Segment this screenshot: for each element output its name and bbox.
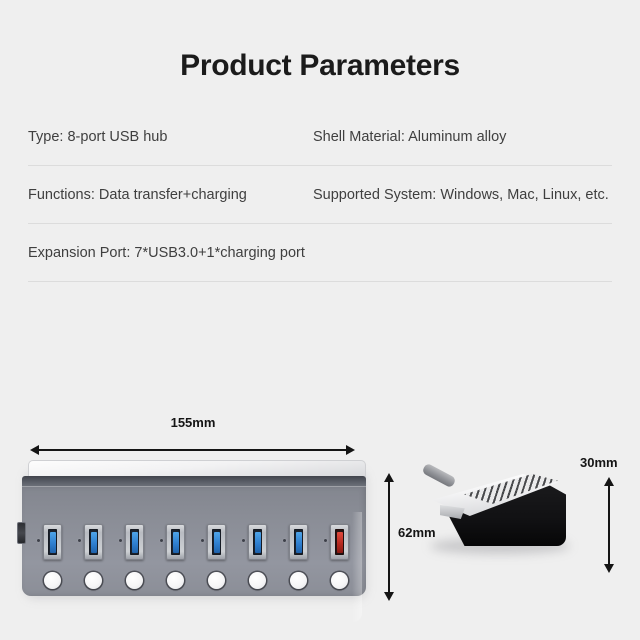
usb-tongue — [91, 532, 97, 553]
usb-port-icon — [84, 524, 103, 560]
usb-tongue — [214, 532, 220, 553]
product-front-view: 155mm — [12, 415, 374, 615]
led-indicator-icon — [283, 539, 286, 542]
led-indicator-icon — [37, 539, 40, 542]
usb-tongue — [337, 532, 343, 553]
spec-row: Type: 8-port USB hub Shell Material: Alu… — [28, 108, 612, 166]
switch-slot-3 — [122, 569, 147, 591]
usb-tongue — [50, 532, 56, 553]
usb-cavity — [171, 529, 180, 555]
arrow-down-icon — [384, 592, 394, 601]
usb-port-3 — [122, 523, 147, 561]
dimension-arrow-width — [30, 445, 355, 455]
led-indicator-icon — [324, 539, 327, 542]
product-side-view — [418, 450, 578, 590]
usb-port-icon — [43, 524, 62, 560]
led-indicator-icon — [160, 539, 163, 542]
dimension-bar — [608, 482, 610, 568]
spec-row: Expansion Port: 7*USB3.0+1*charging port — [28, 224, 612, 282]
hub-side-connector-port — [17, 522, 26, 544]
usb-port-icon — [125, 524, 144, 560]
dimension-label-width: 155mm — [12, 415, 374, 430]
arrow-right-icon — [346, 445, 355, 455]
switch-slot-6 — [245, 569, 270, 591]
power-switch-button[interactable] — [167, 572, 184, 589]
spec-expansion-port: Expansion Port: 7*USB3.0+1*charging port — [28, 243, 313, 263]
hub-right-edge-highlight — [352, 512, 362, 622]
switch-slot-1 — [40, 569, 65, 591]
page-title: Product Parameters — [0, 0, 640, 86]
usb-cavity — [212, 529, 221, 555]
hub-top-cap — [28, 460, 366, 477]
spec-functions: Functions: Data transfer+charging — [28, 185, 313, 205]
usb-port-2 — [81, 523, 106, 561]
spec-shell-material: Shell Material: Aluminum alloy — [313, 127, 612, 147]
switch-slot-4 — [163, 569, 188, 591]
usb-tongue — [296, 532, 302, 553]
power-switch-button[interactable] — [44, 572, 61, 589]
usb-port-7 — [286, 523, 311, 561]
usb-cavity — [253, 529, 262, 555]
power-switch-button[interactable] — [331, 572, 348, 589]
led-indicator-icon — [201, 539, 204, 542]
usb-port-icon — [289, 524, 308, 560]
usb-cavity — [294, 529, 303, 555]
usb-port-1 — [40, 523, 65, 561]
usb-port-icon — [166, 524, 185, 560]
usb-cavity — [130, 529, 139, 555]
led-indicator-icon — [242, 539, 245, 542]
switch-slot-2 — [81, 569, 106, 591]
usb-port-4 — [163, 523, 188, 561]
dimension-arrow-height — [384, 473, 394, 601]
led-indicator-icon — [119, 539, 122, 542]
dimension-height-front: 62mm — [376, 473, 422, 601]
usb-cavity — [89, 529, 98, 555]
spec-table: Type: 8-port USB hub Shell Material: Alu… — [28, 86, 612, 282]
usb-tongue — [255, 532, 261, 553]
power-switch-button[interactable] — [290, 572, 307, 589]
dimension-height-side: 30mm — [596, 455, 640, 585]
dimension-bar — [388, 478, 390, 596]
switch-slot-7 — [286, 569, 311, 591]
arrow-down-icon — [604, 564, 614, 573]
usb-port-icon — [248, 524, 267, 560]
usb-port-row — [40, 522, 352, 562]
dimension-arrow-side-height — [604, 477, 614, 573]
dimension-label-side-height: 30mm — [580, 455, 618, 470]
switch-slot-8 — [327, 569, 352, 591]
usb-hub-body — [18, 460, 368, 598]
product-image-area: 155mm — [0, 395, 640, 640]
usb-tongue — [173, 532, 179, 553]
spec-supported-system: Supported System: Windows, Mac, Linux, e… — [313, 185, 612, 205]
spec-type: Type: 8-port USB hub — [28, 127, 313, 147]
hub-front-face — [22, 486, 366, 596]
power-switch-button[interactable] — [249, 572, 266, 589]
usb-port-icon — [207, 524, 226, 560]
spec-row: Functions: Data transfer+charging Suppor… — [28, 166, 612, 224]
usb-port-5 — [204, 523, 229, 561]
usb-port-6 — [245, 523, 270, 561]
power-switch-button[interactable] — [208, 572, 225, 589]
power-switch-button[interactable] — [85, 572, 102, 589]
switch-slot-5 — [204, 569, 229, 591]
usb-cable — [421, 463, 456, 489]
power-switch-button[interactable] — [126, 572, 143, 589]
dimension-bar — [35, 449, 350, 451]
led-indicator-icon — [78, 539, 81, 542]
charging-port-8 — [327, 523, 352, 561]
power-switch-row — [40, 568, 352, 592]
usb-cavity — [335, 529, 344, 555]
charging-port-icon — [330, 524, 349, 560]
usb-cavity — [48, 529, 57, 555]
usb-tongue — [132, 532, 138, 553]
